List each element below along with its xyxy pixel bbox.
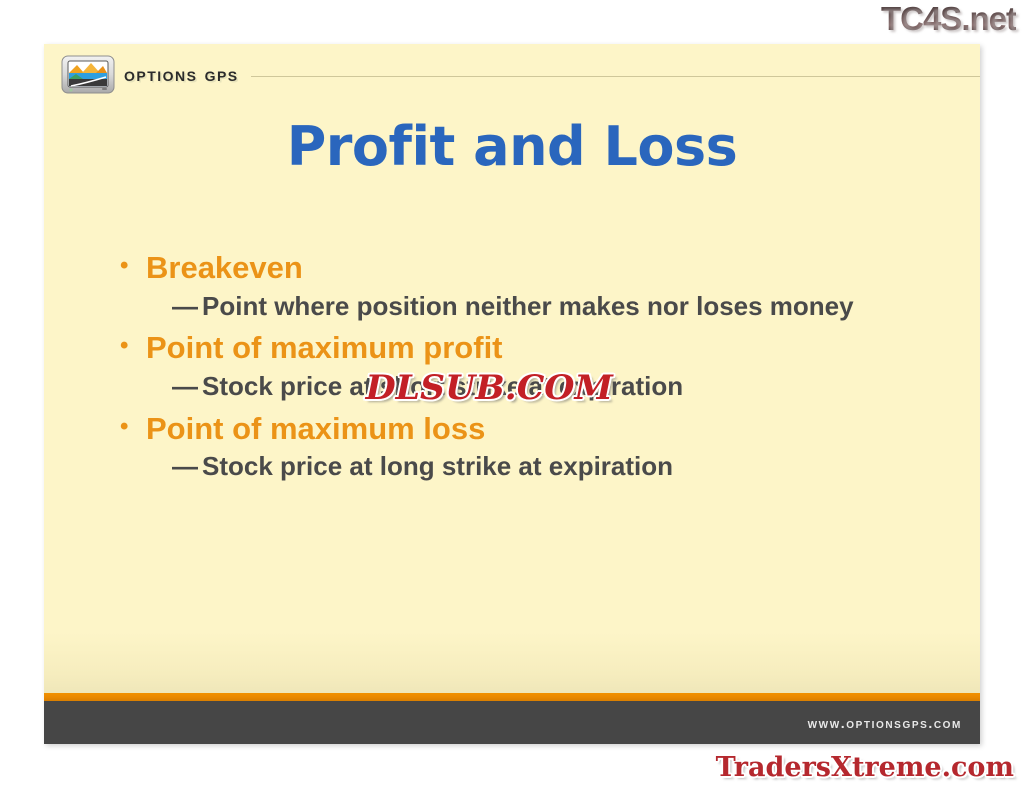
brand-name: Options GPS <box>124 64 239 87</box>
dlsub-watermark: DLSUB.COM <box>366 371 613 405</box>
em-dash-icon: — <box>172 291 202 323</box>
bullet-level1-label: Point of maximum loss <box>146 413 940 446</box>
header-divider <box>251 76 980 77</box>
bullet-level2-text: Point where position neither makes nor l… <box>202 291 892 323</box>
bullet-level2: — Stock price at long strike at expirati… <box>172 451 940 483</box>
bullet-level2-text: Stock price at long strike at expiration <box>202 451 892 483</box>
tc4s-watermark: TC4S.net <box>881 2 1016 35</box>
list-item: • Breakeven — Point where position neith… <box>120 252 940 322</box>
em-dash-icon: — <box>172 451 202 483</box>
slide-footer: www.OptionsGPS.com <box>44 701 980 744</box>
footer-website-url: www.OptionsGPS.com <box>808 715 962 731</box>
bullet-dot-icon: • <box>120 332 146 360</box>
bullet-level1: • Point of maximum profit <box>120 332 940 365</box>
page-title: Profit and Loss <box>44 120 980 174</box>
bullet-dot-icon: • <box>120 252 146 280</box>
gps-device-chart-icon <box>60 53 116 97</box>
bullet-level2: — Point where position neither makes nor… <box>172 291 940 323</box>
list-item: • Point of maximum loss — Stock price at… <box>120 413 940 483</box>
bullet-level1-label: Breakeven <box>146 252 940 285</box>
em-dash-icon: — <box>172 371 202 403</box>
bullet-dot-icon: • <box>120 413 146 441</box>
footer-accent-strip <box>44 693 980 701</box>
bullet-level1-label: Point of maximum profit <box>146 332 940 365</box>
slide-header: Options GPS <box>44 44 980 106</box>
bullet-level1: • Breakeven <box>120 252 940 285</box>
tradersxtreme-watermark: TradersXtreme.com <box>716 754 1014 781</box>
bullet-level1: • Point of maximum loss <box>120 413 940 446</box>
